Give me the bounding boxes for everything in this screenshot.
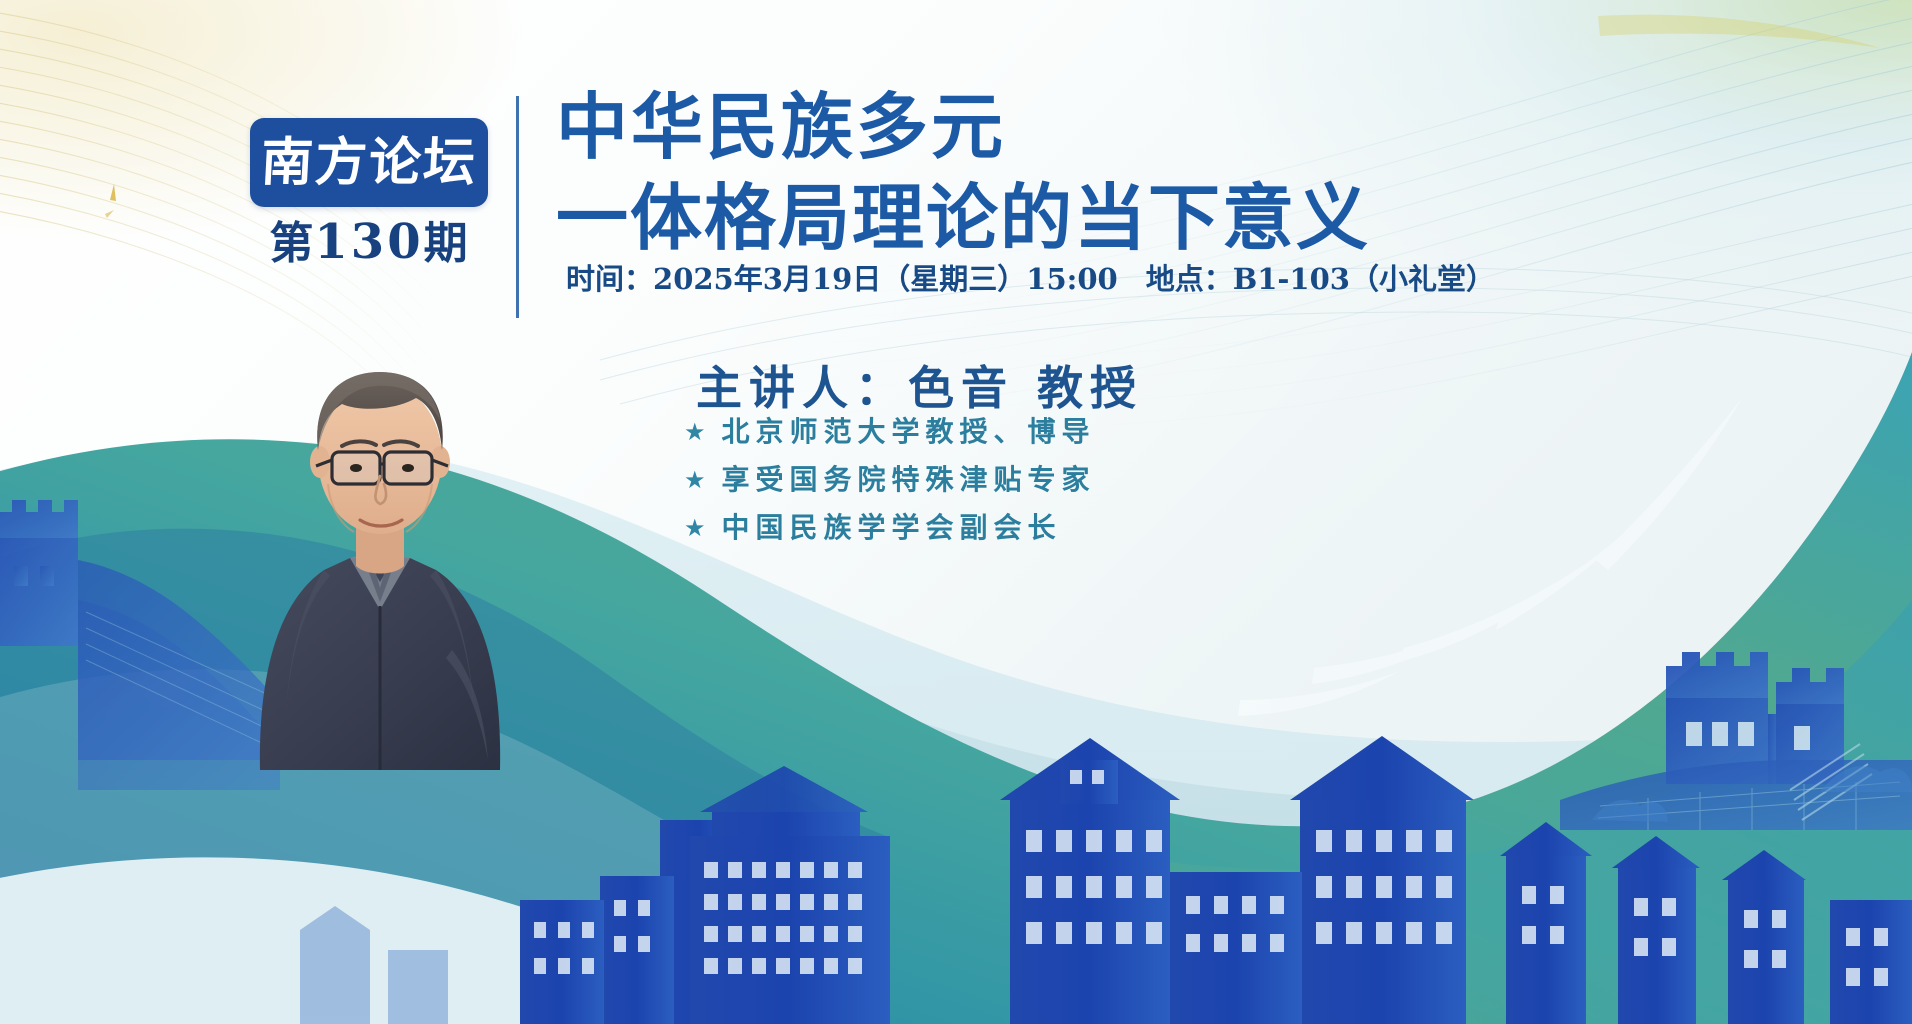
- forum-logo-badge: 南方论坛: [250, 118, 488, 207]
- speaker-photo: [200, 270, 560, 770]
- issue-number-label: 第130期: [250, 207, 488, 271]
- credential-item: ★ 北京师范大学教授、博导: [684, 418, 1096, 446]
- star-icon: ★: [684, 516, 706, 540]
- speaker-label: 主讲人：: [696, 361, 908, 415]
- vertical-divider: [516, 96, 519, 318]
- time-label: 时间：: [566, 262, 653, 296]
- credential-text: 北京师范大学教授、博导: [722, 418, 1096, 446]
- issue-prefix: 第: [269, 218, 314, 269]
- issue-suffix: 期: [424, 218, 469, 269]
- lecture-poster: 南方论坛 第130期 中华民族多元 一体格局理论的当下意义 时间：2025年3月…: [0, 0, 1912, 1024]
- forum-logo-text: 南方论坛: [260, 137, 479, 189]
- poster-title: 中华民族多元 一体格局理论的当下意义: [556, 82, 1436, 263]
- title-line-1: 中华民族多元: [556, 82, 1436, 173]
- place-value: B1-103（小礼堂）: [1233, 262, 1495, 296]
- star-icon: ★: [684, 468, 706, 492]
- event-meta-line: 时间：2025年3月19日（星期三）15:00地点：B1-103（小礼堂）: [566, 256, 1495, 298]
- credential-item: ★ 享受国务院特殊津贴专家: [684, 466, 1096, 494]
- title-line-2: 一体格局理论的当下意义: [556, 173, 1436, 264]
- issue-number: 130: [314, 214, 423, 270]
- star-icon: ★: [684, 420, 706, 444]
- time-value: 2025年3月19日（星期三）15:00: [653, 262, 1118, 296]
- speaker-title: 教授: [1037, 361, 1143, 415]
- credential-item: ★ 中国民族学学会副会长: [684, 514, 1096, 542]
- speaker-heading: 主讲人：色音 教授: [696, 352, 1143, 418]
- credential-text: 享受国务院特殊津贴专家: [722, 466, 1096, 494]
- credential-text: 中国民族学学会副会长: [722, 514, 1062, 542]
- place-label: 地点：: [1146, 262, 1233, 296]
- speaker-credentials: ★ 北京师范大学教授、博导 ★ 享受国务院特殊津贴专家 ★ 中国民族学学会副会长: [684, 418, 1096, 562]
- speaker-name: 色音: [908, 361, 1014, 415]
